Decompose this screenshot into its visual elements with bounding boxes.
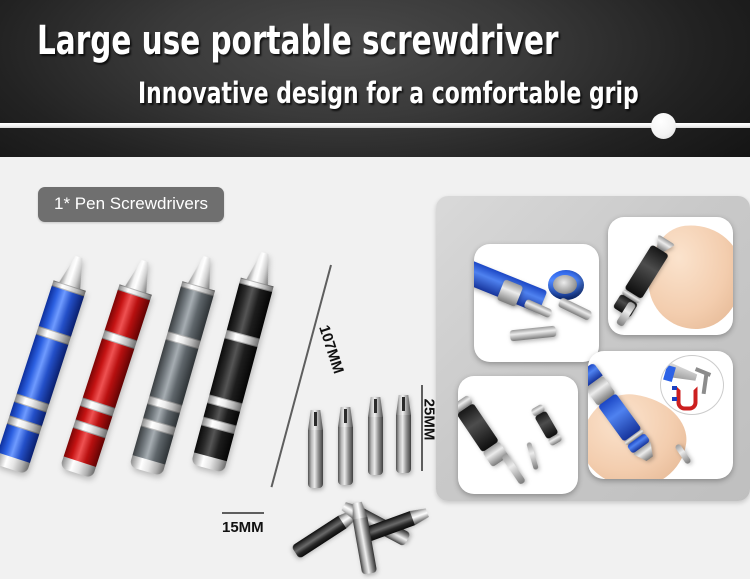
bit-slot bbox=[374, 399, 377, 413]
loose-bit-a bbox=[558, 297, 593, 321]
bit-standing-2 bbox=[338, 407, 353, 485]
page-subtitle: Innovative design for a comfortable grip bbox=[138, 76, 639, 110]
card-hand-holding-gray-pen bbox=[608, 217, 733, 335]
measure-label-15mm: 15MM bbox=[222, 519, 264, 536]
photo-collage-panel bbox=[436, 196, 750, 501]
bit-shank bbox=[368, 417, 383, 475]
bit-body bbox=[291, 516, 346, 559]
banner-divider-line bbox=[0, 123, 750, 128]
inset-pen-collar bbox=[663, 365, 676, 382]
product-detail-image: Large use portable screwdriver Innovativ… bbox=[0, 0, 750, 579]
card-hand-holding-blue-pen bbox=[588, 351, 733, 479]
magnet-pole-icon bbox=[672, 386, 677, 390]
bit-slot bbox=[344, 409, 347, 423]
pen-tip bbox=[188, 254, 217, 289]
pen-barrel bbox=[150, 340, 199, 405]
bit-body bbox=[510, 326, 557, 342]
bit-body bbox=[558, 297, 593, 321]
loose-bit-b bbox=[510, 326, 557, 342]
banner-slider-knob bbox=[651, 113, 676, 139]
bit-shank bbox=[338, 427, 353, 485]
inset-bit-shaft bbox=[695, 367, 711, 377]
bit-slot bbox=[314, 412, 317, 426]
inset-bit-shaft-2 bbox=[702, 374, 709, 394]
magnet-pole-icon bbox=[672, 397, 677, 401]
bit-head bbox=[368, 397, 383, 417]
bit-head bbox=[308, 410, 323, 430]
driver-shaft bbox=[501, 453, 526, 485]
measure-label-107mm: 107MM bbox=[315, 323, 347, 376]
measure-label-25mm: 25MM bbox=[420, 399, 437, 441]
blue-cap-inner bbox=[553, 275, 577, 294]
pen-tip bbox=[247, 250, 276, 285]
measure-line-15mm bbox=[222, 512, 264, 514]
bit-head bbox=[338, 407, 353, 427]
bit-shank bbox=[308, 430, 323, 488]
driver-hook bbox=[526, 442, 539, 470]
bit-standing-1 bbox=[308, 410, 323, 488]
black-driver-small bbox=[530, 404, 562, 447]
bit-tip bbox=[350, 501, 368, 519]
bit-shank bbox=[396, 415, 411, 473]
card-disassembled-blue-pen bbox=[474, 244, 599, 362]
magnetic-tip-inset bbox=[660, 355, 724, 415]
pen-barrel bbox=[209, 338, 257, 403]
pen-grip-upper bbox=[227, 283, 272, 338]
black-driver-small-hook bbox=[526, 442, 539, 470]
bit-head bbox=[396, 395, 411, 415]
bit-slot bbox=[402, 397, 405, 411]
magnet-icon bbox=[677, 387, 698, 411]
pen-barrel bbox=[83, 338, 134, 407]
black-driver-large-shaft bbox=[501, 453, 526, 485]
pen-barrel bbox=[17, 334, 68, 403]
header-banner: Large use portable screwdriver Innovativ… bbox=[0, 0, 750, 157]
bit-standing-3 bbox=[368, 397, 383, 475]
bit-standing-4 bbox=[396, 395, 411, 473]
card-two-black-tools bbox=[458, 376, 578, 494]
page-title: Large use portable screwdriver bbox=[37, 18, 559, 64]
